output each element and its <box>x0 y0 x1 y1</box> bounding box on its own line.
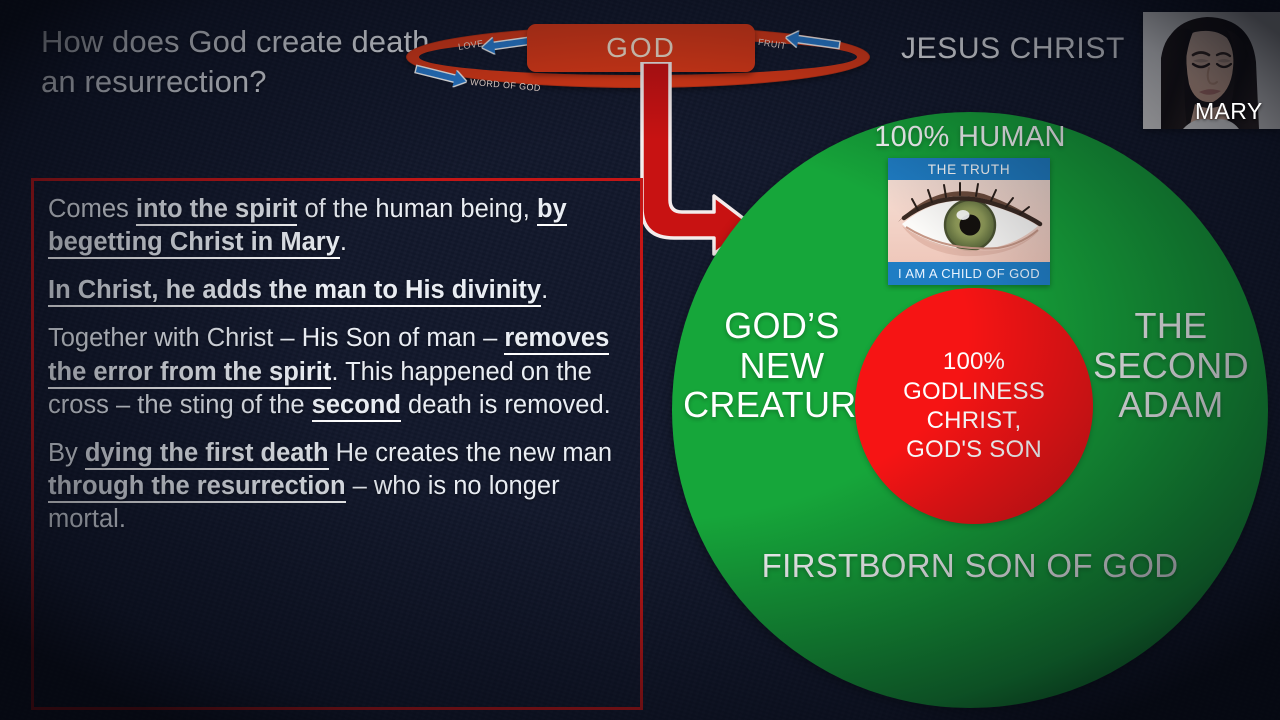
godliness-line-1: 100% <box>943 347 1005 376</box>
slide-canvas: How does God create death an resurrectio… <box>0 0 1280 720</box>
eye-photo <box>888 180 1050 262</box>
paragraph-4: By dying the first death He creates the … <box>48 437 624 536</box>
mary-label: MARY <box>1195 98 1263 125</box>
godliness-line-3: CHRIST, <box>927 406 1022 435</box>
explanation-textbox: Comes into the spirit of the human being… <box>31 178 643 710</box>
label-the-second-adam: THE SECOND ADAM <box>1076 306 1266 425</box>
label-100-percent-human: 100% HUMAN <box>672 122 1268 154</box>
paragraph-1: Comes into the spirit of the human being… <box>48 193 624 259</box>
paragraph-3: Together with Christ – His Son of man – … <box>48 322 624 421</box>
jesus-christ-label: JESUS CHRIST <box>901 32 1125 66</box>
red-godliness-ellipse: 100% GODLINESS CHRIST, GOD'S SON <box>855 288 1093 524</box>
label-firstborn-son-of-god: FIRSTBORN SON OF GOD <box>672 544 1268 589</box>
eye-card-header: THE TRUTH <box>888 158 1050 180</box>
godliness-line-2: GODLINESS <box>903 377 1045 406</box>
eye-card-footer: I AM A CHILD OF GOD <box>888 262 1050 285</box>
label-gods-new-creature: GOD’S NEW CREATURE <box>682 306 882 425</box>
god-label: GOD <box>606 34 676 62</box>
green-circle-diagram: 100% HUMAN THE TRUTH <box>672 112 1268 708</box>
mary-photo-card: MARY <box>1143 12 1280 129</box>
paragraph-2: In Christ, he adds the man to His divini… <box>48 274 624 307</box>
godliness-line-4: GOD'S SON <box>906 435 1042 464</box>
truth-eye-card: THE TRUTH <box>888 158 1050 285</box>
